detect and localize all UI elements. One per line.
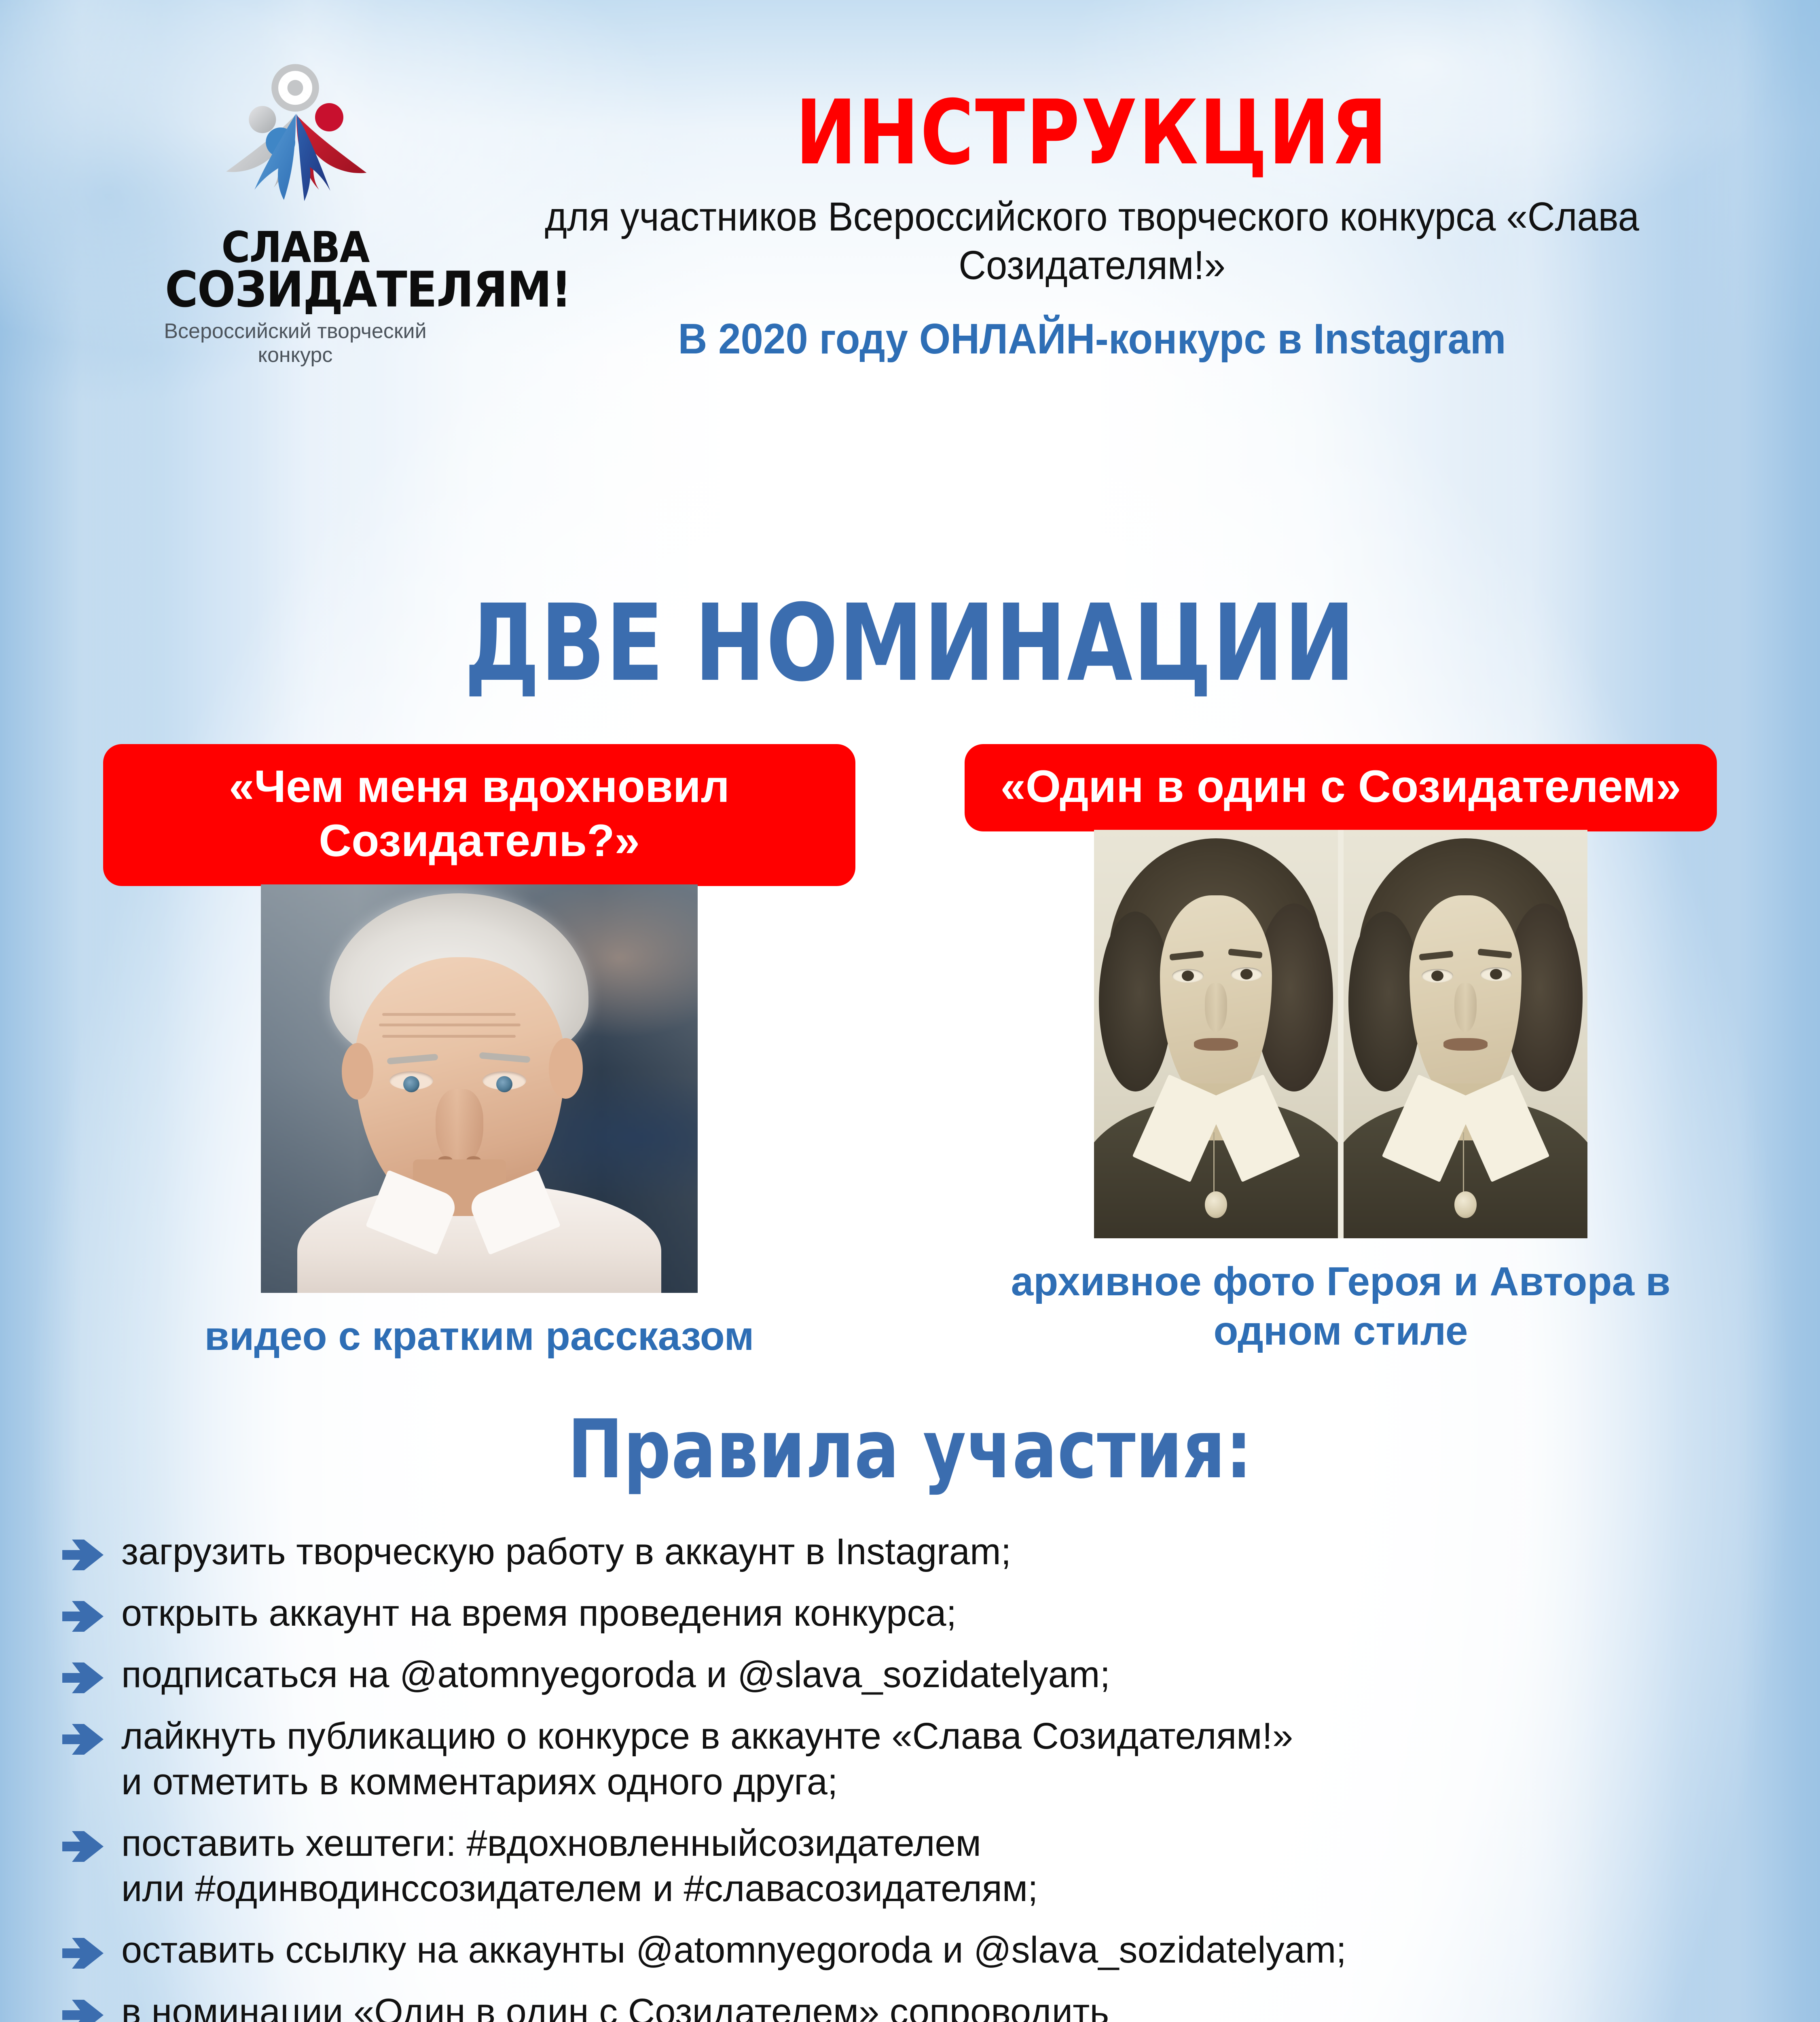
online-notice: В 2020 году ОНЛАЙН-конкурс в Instagram [522,313,1662,365]
nomination-caption-2: архивное фото Героя и Автора в одном сти… [965,1257,1717,1356]
rule-item: в номинации «Один в один с Созидателем» … [61,1989,1759,2022]
nomination-card-1[interactable]: «Чем меня вдохновил Созидатель?» [103,744,855,1361]
nomination-photo-wrap-2 [965,830,1717,1238]
rules-heading: Правила участия: [164,1409,1656,1490]
poster-root: Слава Созидателям! Всероссийский творчес… [0,0,1820,2022]
rules-list: загрузить творческую работу в аккаунт в … [0,1529,1820,2022]
arrow-right-icon [61,1721,105,1758]
rule-text: оставить ссылку на аккаунты @atomnyegoro… [121,1927,1346,1973]
portrait-hero [1094,830,1338,1238]
arrow-right-icon-wrap [61,1713,121,1758]
rule-text: подписаться на @atomnyegoroda и @slava_s… [121,1652,1110,1697]
arrow-right-icon-wrap [61,1821,121,1865]
nomination-card-2[interactable]: «Один в один с Созидателем» [965,744,1717,1361]
arrow-right-icon-wrap [61,1652,121,1696]
arrow-right-icon-wrap [61,1591,121,1635]
rule-text: открыть аккаунт на время проведения конк… [121,1591,957,1636]
arrow-right-icon [61,1828,105,1865]
rule-item: открыть аккаунт на время проведения конк… [61,1591,1759,1636]
arrow-right-icon [61,1536,105,1574]
arrow-right-icon [61,1997,105,2022]
poster-header: Слава Созидателям! Всероссийский творчес… [0,0,1820,578]
brand-logo: Слава Созидателям! Всероссийский творчес… [154,61,437,367]
portrait-author [1344,830,1587,1238]
photo-two-women-portraits [1094,830,1587,1238]
arrow-right-icon-wrap [61,1529,121,1574]
arrow-right-icon [61,1598,105,1635]
arrow-right-icon-wrap [61,1927,121,1972]
rule-item: оставить ссылку на аккаунты @atomnyegoro… [61,1927,1759,1973]
page-title: ИНСТРУКЦИЯ [595,88,1589,177]
arrow-right-icon [61,1659,105,1696]
nomination-banner-1: «Чем меня вдохновил Созидатель?» [103,744,855,886]
rule-item: поставить хештеги: #вдохновленныйсозидат… [61,1821,1759,1911]
page-subtitle: для участников Всероссийского творческог… [522,192,1662,290]
rule-item: подписаться на @atomnyegoroda и @slava_s… [61,1652,1759,1697]
nominations-heading: ДВЕ НОМИНАЦИИ [182,590,1638,696]
rule-text: загрузить творческую работу в аккаунт в … [121,1529,1011,1574]
rule-text: лайкнуть публикацию о конкурсе в аккаунт… [121,1713,1293,1804]
logo-subtitle: Всероссийский творческий конкурс [154,319,437,368]
photo-elderly-man [261,884,698,1293]
arrow-right-icon [61,1935,105,1972]
rule-item: загрузить творческую работу в аккаунт в … [61,1529,1759,1574]
nomination-photo-wrap-1 [103,884,855,1293]
logo-word-sozidatelyam: Созидателям! [165,267,425,312]
nomination-caption-1: видео с кратким рассказом [103,1311,855,1361]
nominations-cards: «Чем меня вдохновил Созидатель?» [0,744,1820,1361]
rule-item: лайкнуть публикацию о конкурсе в аккаунт… [61,1713,1759,1804]
three-figures-atom-logo-icon [210,61,380,231]
rule-text: в номинации «Один в один с Созидателем» … [121,1989,1109,2022]
header-text-block: ИНСТРУКЦИЯ для участников Всероссийского… [485,88,1699,365]
nomination-banner-2: «Один в один с Созидателем» [965,744,1717,831]
rule-text: поставить хештеги: #вдохновленныйсозидат… [121,1821,1038,1911]
arrow-right-icon-wrap [61,1989,121,2022]
